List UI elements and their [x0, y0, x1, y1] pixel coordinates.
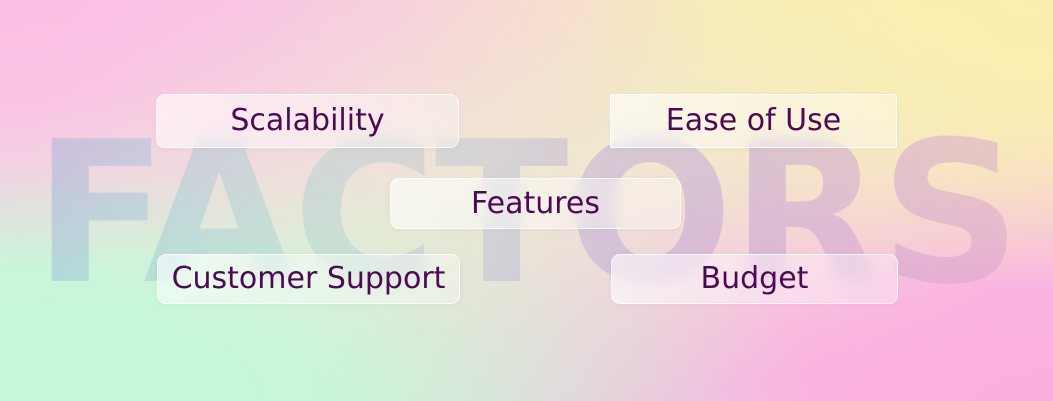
chip-scalability-label: Scalability: [230, 106, 384, 136]
chip-scalability[interactable]: Scalability: [156, 94, 459, 148]
chip-budget-label: Budget: [701, 264, 809, 294]
chip-ease-of-use-label: Ease of Use: [666, 106, 841, 136]
factors-slide: FACTORS Scalability Ease of Use Features…: [0, 0, 1053, 401]
chip-customer-support[interactable]: Customer Support: [157, 254, 460, 304]
chip-ease-of-use[interactable]: Ease of Use: [610, 94, 897, 148]
chip-customer-support-label: Customer Support: [172, 264, 446, 294]
chip-budget[interactable]: Budget: [611, 254, 898, 304]
chip-features-label: Features: [471, 189, 600, 219]
chip-features[interactable]: Features: [390, 178, 681, 229]
